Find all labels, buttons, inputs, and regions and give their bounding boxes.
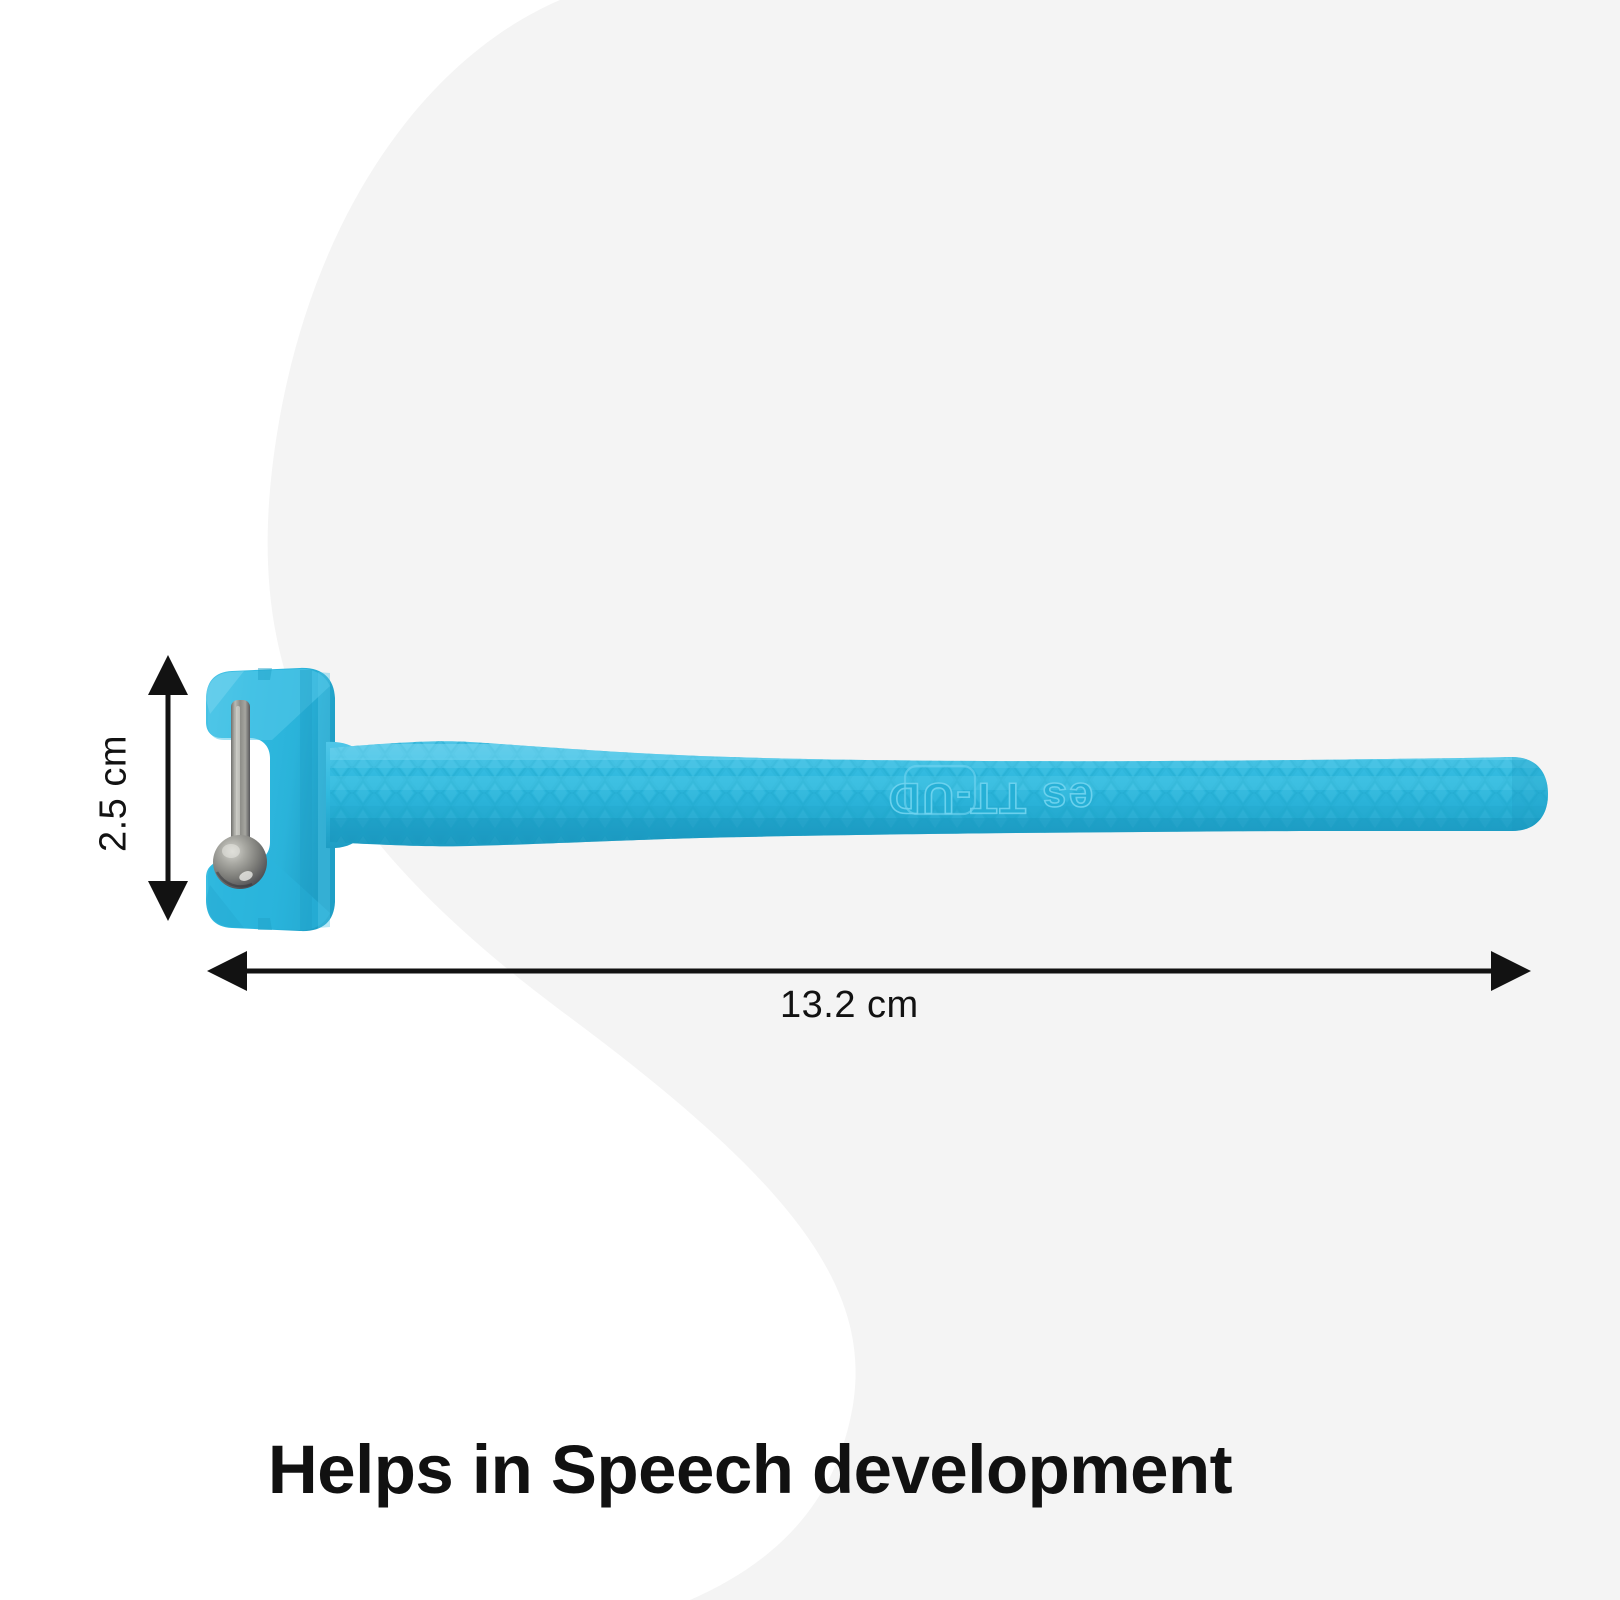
product-image-canvas: es TT-UD 13.2 cm 2.5 cm Helps in Speech bbox=[0, 0, 1620, 1600]
length-dimension-label: 13.2 cm bbox=[780, 984, 919, 1027]
height-dimension-label: 2.5 cm bbox=[93, 674, 136, 914]
caption-text: Helps in Speech development bbox=[0, 1430, 1500, 1509]
dimension-annotations bbox=[0, 0, 1620, 1600]
